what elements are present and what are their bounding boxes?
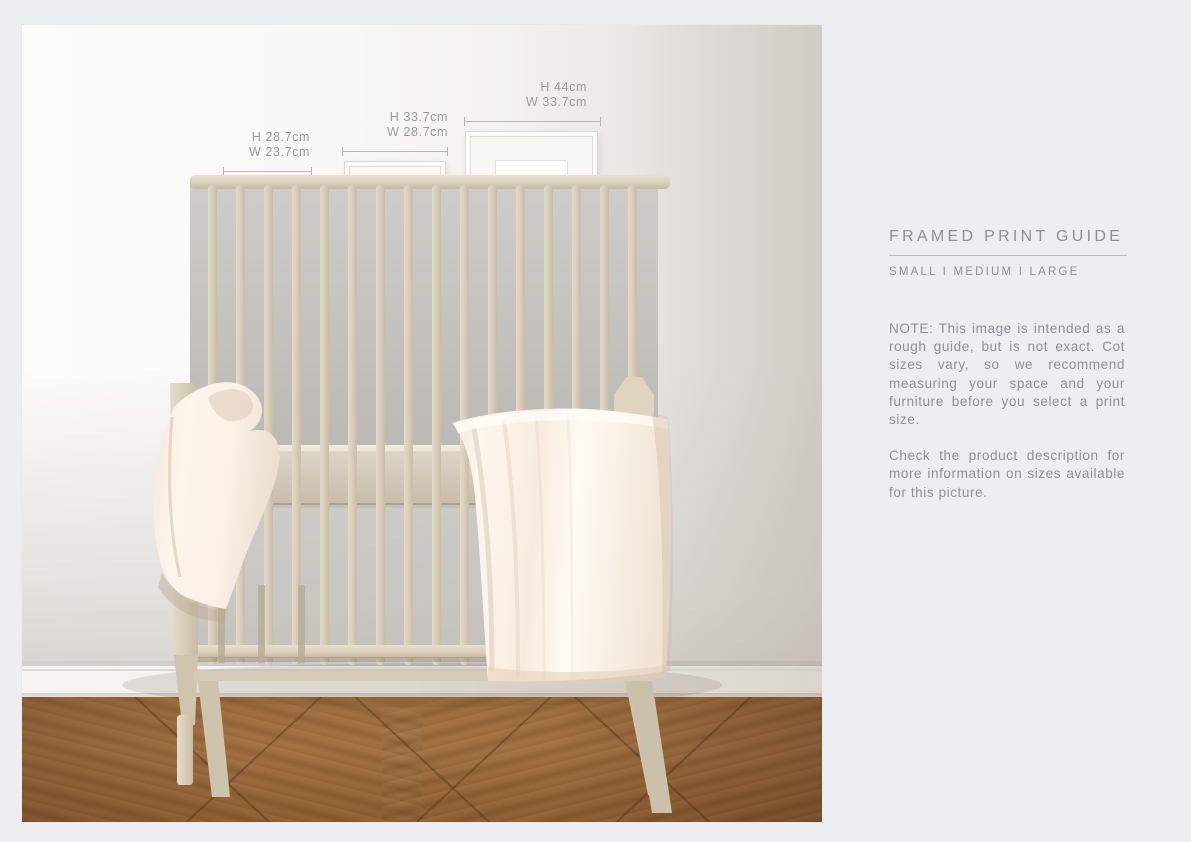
note-paragraph-2: Check the product description for more i… [889,447,1125,502]
nursery-room-photo: H 28.7cm W 23.7cm Framed Small Print H 3… [22,25,822,822]
cot-left-foot [177,715,193,785]
note-paragraph-1: NOTE: This image is intended as a rough … [889,320,1125,429]
title-divider [889,255,1127,256]
panel-subtitle: SMALL I MEDIUM I LARGE [889,266,1139,278]
cot-illustration [22,25,822,822]
framed-print-guide-panel: FRAMED PRINT GUIDE SMALL I MEDIUM I LARG… [889,228,1139,515]
cot-top-rail [190,175,670,189]
page-title: FRAMED PRINT GUIDE [889,228,1139,246]
cot-front-right-leg [630,681,672,813]
